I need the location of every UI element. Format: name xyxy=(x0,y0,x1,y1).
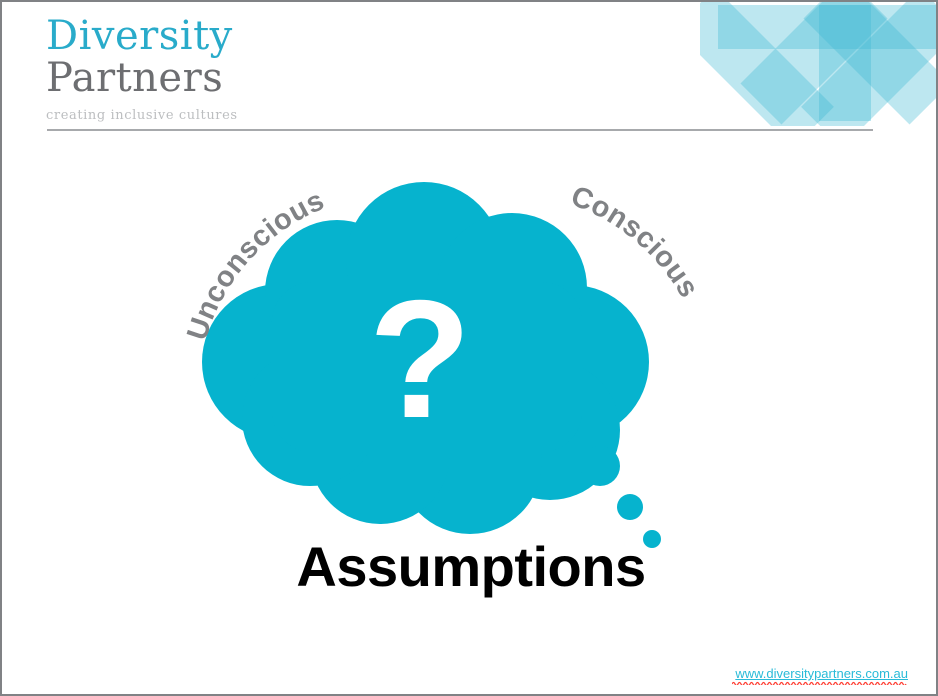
pattern-band-diagonal-outer-right xyxy=(801,2,936,126)
label-conscious: Conscious xyxy=(567,180,705,303)
spellcheck-underline xyxy=(732,681,908,685)
bubble-tail-dots xyxy=(580,446,661,548)
pattern-band-diagonal-inner-left xyxy=(740,2,887,125)
question-mark-glyph: ? xyxy=(369,265,472,453)
slide-canvas: Diversity Partners creating inclusive cu… xyxy=(0,0,938,696)
chevron-burst-pattern xyxy=(700,2,936,126)
logo-tagline: creating inclusive cultures xyxy=(46,108,466,123)
label-conscious-text: Conscious xyxy=(567,180,705,303)
pattern-band-diagonal-outer-left xyxy=(700,2,834,126)
logo-word-diversity: Diversity xyxy=(46,16,466,56)
tail-dot-medium xyxy=(617,494,643,520)
footer-website-link[interactable]: www.diversitypartners.com.au xyxy=(735,666,908,681)
pattern-band-diagonal-inner-right xyxy=(803,2,936,125)
pattern-band-vertical xyxy=(819,5,871,121)
tail-dot-large xyxy=(580,446,620,486)
logo-word-partners: Partners xyxy=(46,58,466,98)
header-divider xyxy=(47,129,873,131)
company-logo: Diversity Partners creating inclusive cu… xyxy=(46,16,466,123)
caption-assumptions: Assumptions xyxy=(2,534,938,599)
pattern-band-horizontal xyxy=(718,5,936,49)
